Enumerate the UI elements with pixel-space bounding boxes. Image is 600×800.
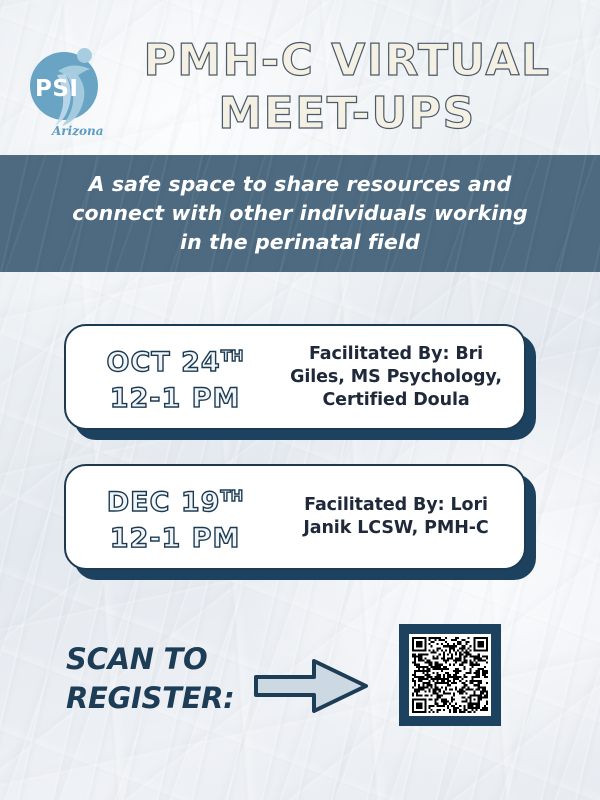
poster-canvas: PSI Arizona PMH-C VIRTUAL MEET-UPS A saf…	[0, 0, 600, 800]
session-date-suffix: TH	[221, 347, 244, 365]
title-line-1: PMH-C VIRTUAL	[112, 34, 582, 87]
session-date: DEC 19	[107, 487, 221, 518]
logo-sub-text: Arizona	[51, 124, 104, 138]
session-date: OCT 24	[107, 347, 221, 378]
poster-title: PMH-C VIRTUAL MEET-UPS	[112, 34, 582, 140]
session-card[interactable]: DEC 19TH 12-1 PM Facilitated By: Lori Ja…	[64, 464, 526, 570]
psi-arizona-logo: PSI Arizona	[22, 38, 114, 143]
subtitle-text: A safe space to share resources and conn…	[65, 170, 535, 257]
qr-code-frame[interactable]	[399, 624, 501, 726]
qr-code[interactable]	[409, 634, 491, 716]
session-date-block: DEC 19TH 12-1 PM	[66, 478, 278, 557]
subtitle-band: A safe space to share resources and conn…	[0, 155, 600, 272]
session-date-block: OCT 24TH 12-1 PM	[66, 338, 278, 417]
session-time: 12-1 PM	[110, 383, 241, 414]
session-date-suffix: TH	[220, 487, 243, 505]
arrow-right-icon	[252, 655, 372, 717]
arrow-right-shape	[256, 661, 366, 711]
scan-line-2: REGISTER:	[66, 679, 276, 718]
logo-mark-text: PSI	[35, 76, 78, 102]
session-facilitator: Facilitated By: Lori Janik LCSW, PMH-C	[278, 494, 524, 540]
session-time: 12-1 PM	[110, 523, 241, 554]
scan-line-1: SCAN TO	[66, 640, 276, 679]
logo-figure-head	[77, 48, 92, 63]
title-line-2: MEET-UPS	[112, 87, 582, 140]
session-facilitator: Facilitated By: Bri Giles, MS Psychology…	[278, 343, 524, 412]
session-card[interactable]: OCT 24TH 12-1 PM Facilitated By: Bri Gil…	[64, 324, 526, 430]
scan-to-register-label: SCAN TO REGISTER:	[66, 640, 276, 718]
